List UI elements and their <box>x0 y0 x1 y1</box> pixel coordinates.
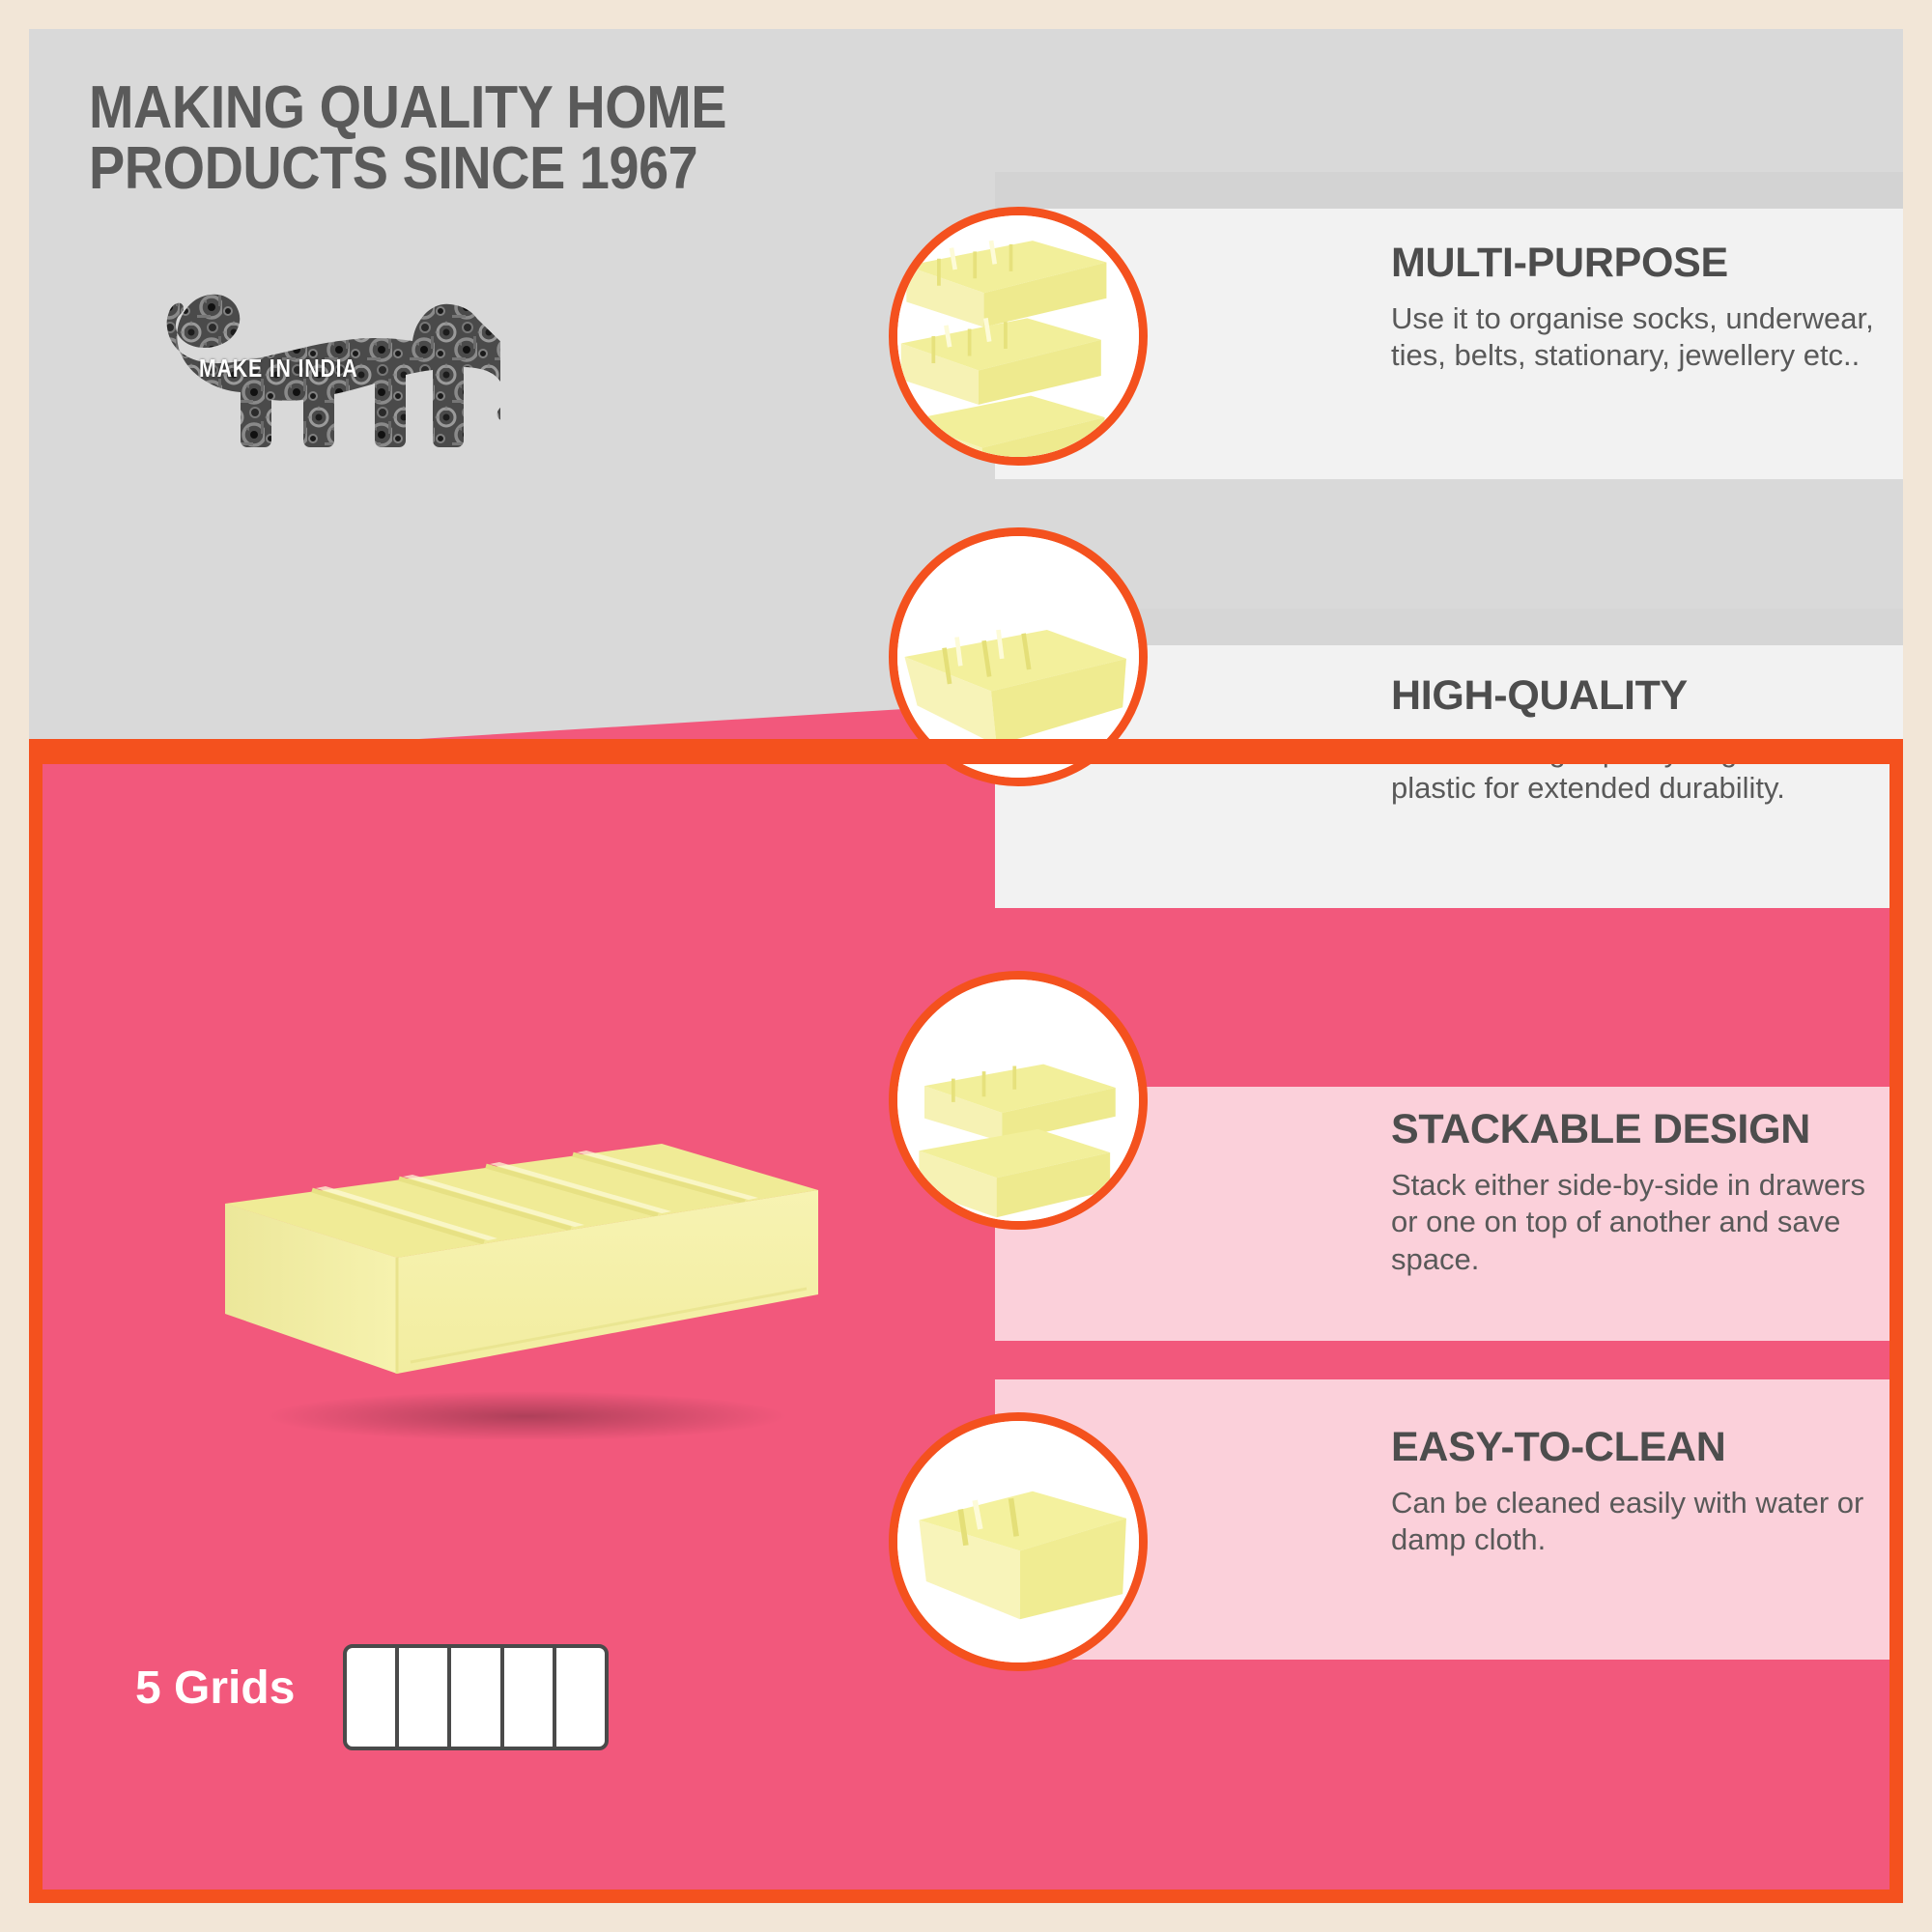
grids-count-icon <box>343 1644 609 1750</box>
feature-panel-easy-to-clean: EASY-TO-CLEAN Can be cleaned easily with… <box>995 1379 1903 1660</box>
make-in-india-logo: MAKE IN INDIA <box>95 278 500 486</box>
separator-band-1 <box>995 172 1903 209</box>
feature-body: Can be cleaned easily with water or damp… <box>1391 1485 1893 1559</box>
feature-title: MULTI-PURPOSE <box>1391 240 1893 287</box>
page-title: MAKING QUALITY HOME PRODUCTS SINCE 1967 <box>89 77 802 199</box>
grid-cell <box>451 1648 503 1747</box>
grid-cell <box>556 1648 605 1747</box>
feature-text-easy-to-clean: EASY-TO-CLEAN Can be cleaned easily with… <box>1391 1424 1893 1559</box>
feature-panel-multi-purpose: MULTI-PURPOSE Use it to organise socks, … <box>995 209 1903 479</box>
feature-image-stackable-design <box>889 971 1148 1230</box>
make-in-india-label: MAKE IN INDIA <box>199 354 358 384</box>
feature-text-multi-purpose: MULTI-PURPOSE Use it to organise socks, … <box>1391 240 1893 375</box>
feature-image-easy-to-clean <box>889 1412 1148 1671</box>
main-product-image <box>208 1111 826 1439</box>
feature-image-multi-purpose <box>889 207 1148 466</box>
feature-text-stackable-design: STACKABLE DESIGN Stack either side-by-si… <box>1391 1106 1893 1278</box>
feature-body: Use it to organise socks, underwear, tie… <box>1391 300 1893 375</box>
orange-top-band <box>29 739 1903 764</box>
feature-title: STACKABLE DESIGN <box>1391 1106 1893 1153</box>
feature-panel-stackable-design: STACKABLE DESIGN Stack either side-by-si… <box>995 1087 1903 1341</box>
grids-label: 5 Grids <box>135 1662 295 1715</box>
separator-band-4 <box>995 1341 1903 1379</box>
content-canvas: MAKING QUALITY HOME PRODUCTS SINCE 1967 <box>29 29 1903 1903</box>
feature-panel-high-quality: HIGH-QUALITY Built from high-quality eng… <box>995 645 1903 908</box>
grid-cell <box>504 1648 556 1747</box>
feature-body: Stack either side-by-side in drawers or … <box>1391 1167 1893 1278</box>
feature-title: EASY-TO-CLEAN <box>1391 1424 1893 1471</box>
grid-cell <box>399 1648 451 1747</box>
headline-line-1: MAKING QUALITY HOME <box>89 77 802 138</box>
feature-title: HIGH-QUALITY <box>1391 672 1893 720</box>
infographic-root: MAKING QUALITY HOME PRODUCTS SINCE 1967 <box>0 0 1932 1932</box>
headline-line-2: PRODUCTS SINCE 1967 <box>89 138 802 199</box>
grid-cell <box>347 1648 399 1747</box>
